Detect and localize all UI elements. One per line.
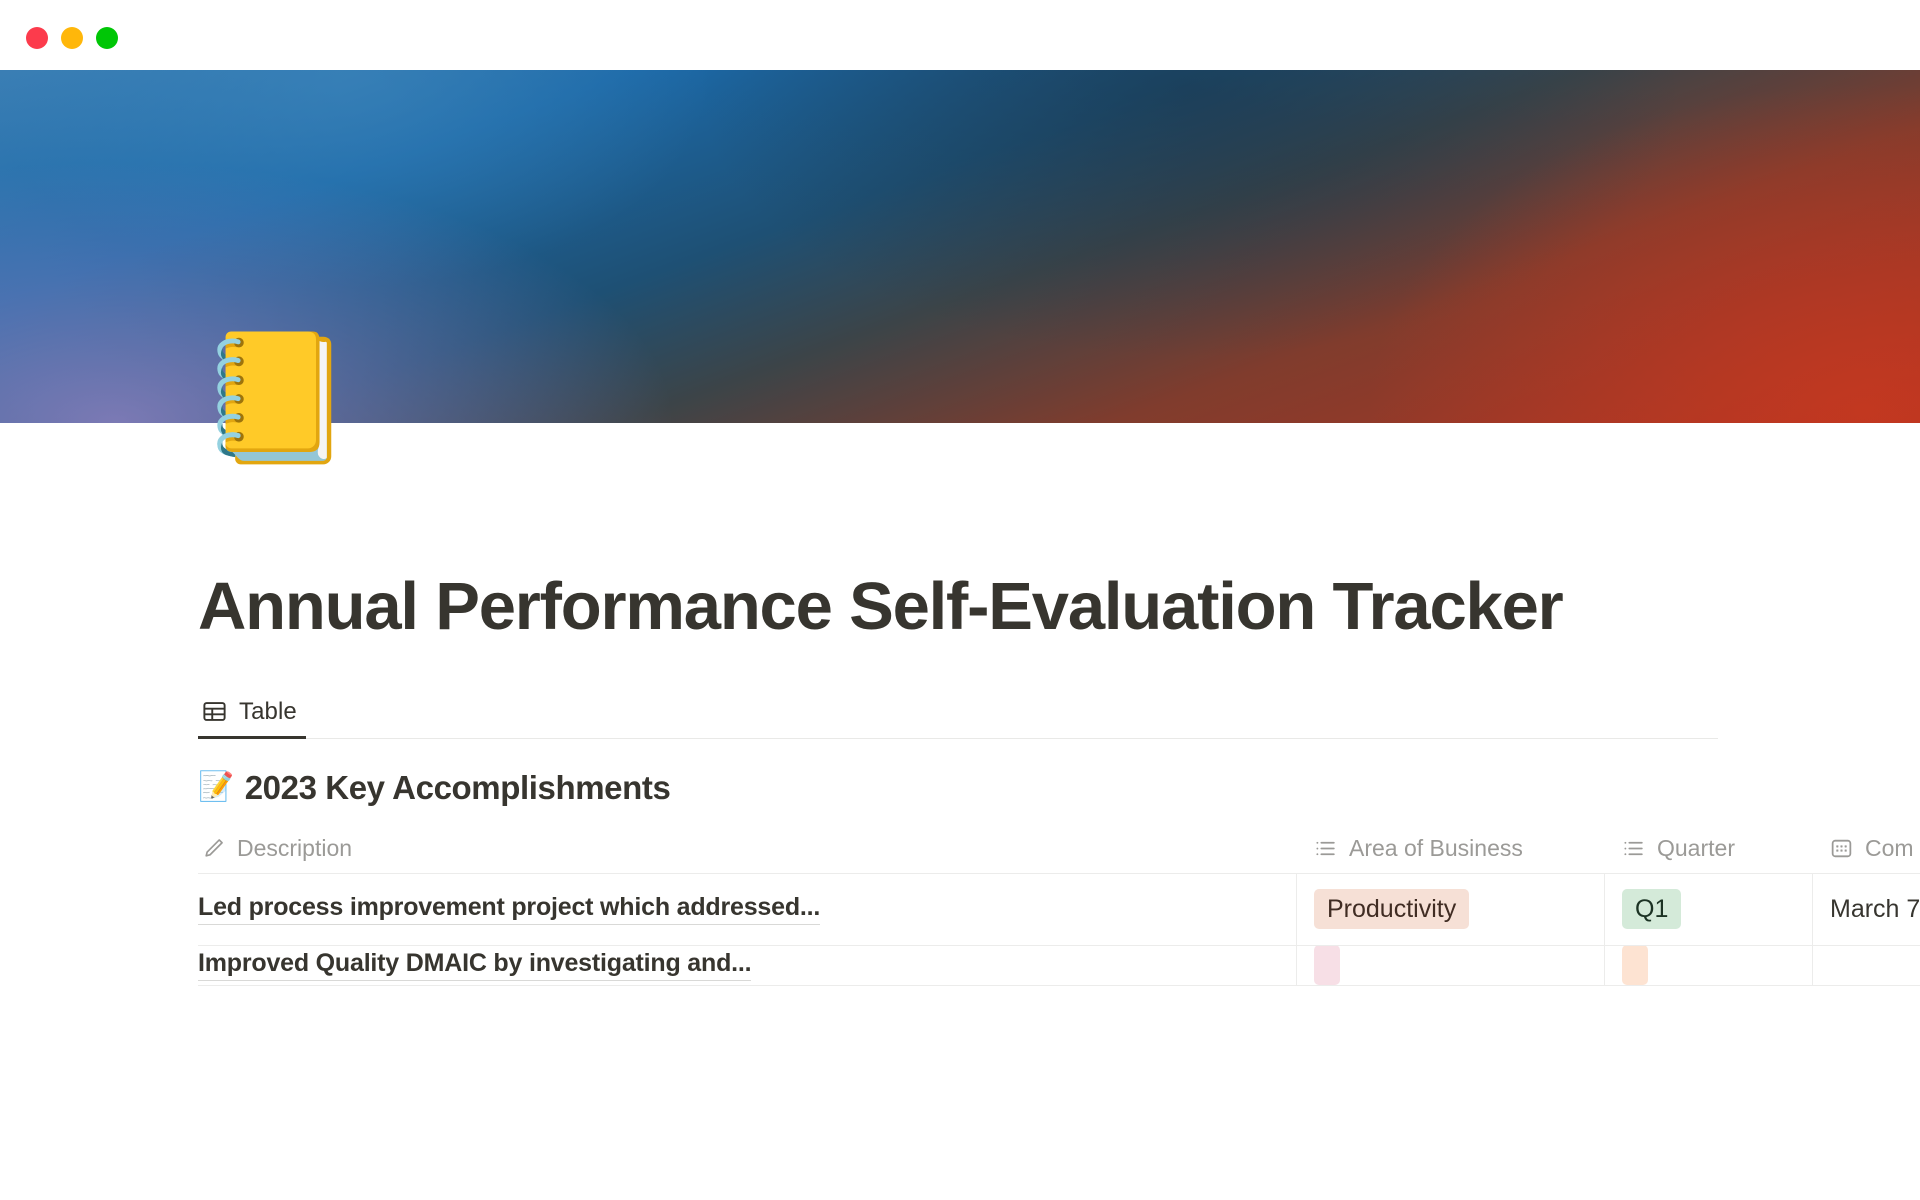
memo-emoji: 📝 — [198, 773, 234, 802]
calendar-icon — [1829, 836, 1854, 861]
database-table: Description Area of Business — [198, 824, 1920, 986]
table-header-row: Description Area of Business — [198, 824, 1920, 874]
database-title-text: 2023 Key Accomplishments — [245, 769, 671, 807]
tab-table[interactable]: Table — [198, 698, 306, 738]
status-badge: Q1 — [1622, 889, 1681, 929]
table-row[interactable]: Improved Quality DMAIC by investigating … — [198, 946, 1920, 986]
window-titlebar — [0, 0, 1920, 70]
list-icon — [1313, 836, 1338, 861]
status-badge — [1314, 946, 1340, 986]
cell-area-of-business[interactable] — [1296, 946, 1604, 985]
table-row[interactable]: Led process improvement project which ad… — [198, 874, 1920, 946]
database-view-tabbar: Table — [198, 691, 1718, 739]
column-header-completion-date[interactable]: Com — [1812, 824, 1920, 873]
page-title[interactable]: Annual Performance Self-Evaluation Track… — [198, 568, 1598, 646]
column-header-description-label: Description — [237, 835, 352, 862]
cell-description[interactable]: Led process improvement project which ad… — [198, 874, 1296, 945]
column-header-quarter[interactable]: Quarter — [1604, 824, 1812, 873]
list-icon — [1621, 836, 1646, 861]
column-header-description[interactable]: Description — [198, 824, 1296, 873]
cell-quarter[interactable] — [1604, 946, 1812, 985]
column-header-completion-date-label: Com — [1865, 835, 1914, 862]
column-header-area-of-business-label: Area of Business — [1349, 835, 1523, 862]
page-content: Annual Performance Self-Evaluation Track… — [0, 423, 1920, 986]
status-badge — [1622, 946, 1648, 986]
yellow-notebook-emoji[interactable]: 📒 — [197, 335, 354, 461]
cell-area-of-business[interactable]: Productivity — [1296, 874, 1604, 945]
close-window-button[interactable] — [26, 27, 48, 49]
table-icon — [201, 698, 228, 725]
row-title-link[interactable]: Led process improvement project which ad… — [198, 893, 820, 925]
maximize-window-button[interactable] — [96, 27, 118, 49]
traffic-lights — [26, 27, 118, 49]
tab-table-label: Table — [239, 698, 297, 726]
cell-completion-date[interactable] — [1812, 946, 1920, 985]
cell-completion-date[interactable]: March 7 — [1812, 874, 1920, 945]
cell-description[interactable]: Improved Quality DMAIC by investigating … — [198, 946, 1296, 985]
column-header-quarter-label: Quarter — [1657, 835, 1735, 862]
pencil-icon — [201, 836, 226, 861]
cell-quarter[interactable]: Q1 — [1604, 874, 1812, 945]
row-title-link[interactable]: Improved Quality DMAIC by investigating … — [198, 949, 751, 981]
column-header-area-of-business[interactable]: Area of Business — [1296, 824, 1604, 873]
date-value: March 7 — [1830, 895, 1920, 924]
minimize-window-button[interactable] — [61, 27, 83, 49]
database-title[interactable]: 📝 2023 Key Accomplishments — [198, 769, 1920, 807]
status-badge: Productivity — [1314, 889, 1469, 929]
